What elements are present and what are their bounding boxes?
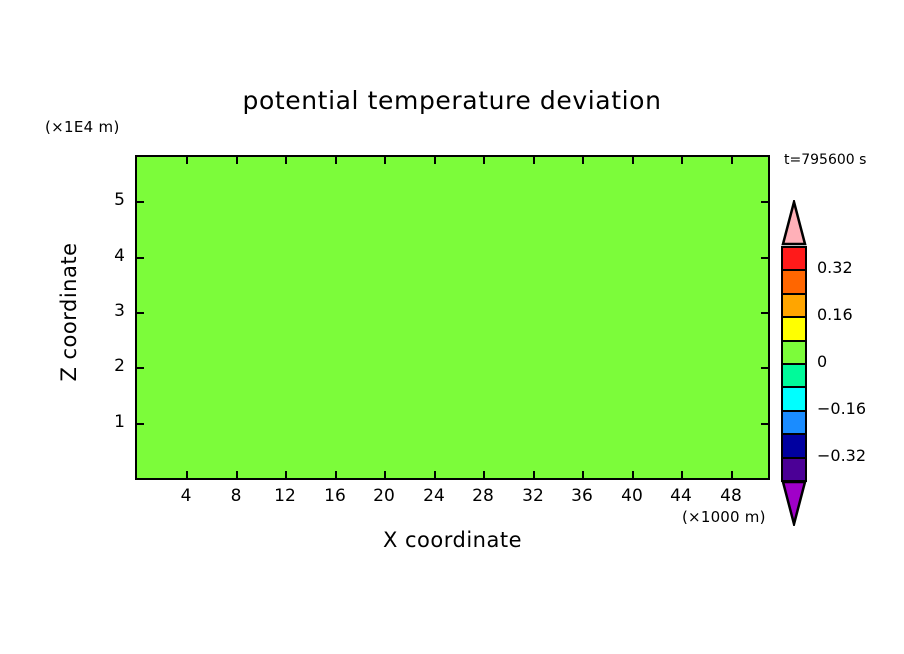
y-axis-tick (137, 312, 144, 314)
x-axis-tick-top (384, 157, 386, 164)
colorbar-tick-label: −0.32 (817, 446, 866, 465)
colorbar-tick-label: 0.16 (817, 305, 853, 324)
x-axis-tick (335, 471, 337, 478)
contour-field-canvas (137, 157, 768, 478)
y-tick-label: 1 (95, 412, 125, 432)
x-axis-title: X coordinate (135, 528, 770, 552)
x-axis-tick (236, 471, 238, 478)
colorbar-band (781, 386, 807, 411)
x-axis-tick-top (582, 157, 584, 164)
x-axis-tick-top (533, 157, 535, 164)
x-axis-tick (483, 471, 485, 478)
y-axis-tick (137, 257, 144, 259)
y-axis-tick-right (761, 367, 768, 369)
x-tick-label: 12 (265, 486, 305, 506)
x-axis-tick (384, 471, 386, 478)
y-axis-tick (137, 423, 144, 425)
x-axis-tick-top (236, 157, 238, 164)
x-axis-tick-top (632, 157, 634, 164)
colorbar (781, 200, 807, 526)
colorbar-tick-label: −0.16 (817, 399, 866, 418)
x-axis-tick (731, 471, 733, 478)
y-axis-tick (137, 367, 144, 369)
y-axis-title: Z coordinate (57, 222, 81, 402)
x-axis-tick (533, 471, 535, 478)
x-axis-tick-top (186, 157, 188, 164)
colorbar-band (781, 410, 807, 435)
colorbar-tick-label: 0.32 (817, 258, 853, 277)
x-axis-tick (285, 471, 287, 478)
colorbar-band (781, 293, 807, 318)
x-axis-tick (434, 471, 436, 478)
x-tick-label: 44 (661, 486, 701, 506)
x-tick-label: 48 (711, 486, 751, 506)
figure-root: potential temperature deviation (×1E4 m)… (0, 0, 904, 654)
x-tick-label: 28 (463, 486, 503, 506)
x-axis-tick-top (483, 157, 485, 164)
y-axis-tick-right (761, 312, 768, 314)
x-tick-label: 32 (513, 486, 553, 506)
y-axis-tick (137, 201, 144, 203)
x-axis-tick-top (285, 157, 287, 164)
x-tick-label: 20 (364, 486, 404, 506)
y-tick-label: 2 (95, 356, 125, 376)
colorbar-band (781, 457, 807, 482)
y-axis-unit-label: (×1E4 m) (45, 118, 120, 136)
y-tick-label: 3 (95, 301, 125, 321)
page-title: potential temperature deviation (0, 86, 904, 115)
plot-area (135, 155, 770, 480)
x-tick-label: 8 (216, 486, 256, 506)
x-axis-tick (632, 471, 634, 478)
y-tick-label: 4 (95, 246, 125, 266)
x-tick-label: 36 (562, 486, 602, 506)
x-axis-tick-top (681, 157, 683, 164)
x-axis-unit-label: (×1000 m) (682, 508, 766, 526)
colorbar-band (781, 269, 807, 294)
colorbar-band (781, 316, 807, 341)
colorbar-band (781, 433, 807, 458)
x-axis-tick-top (731, 157, 733, 164)
x-axis-tick (681, 471, 683, 478)
x-axis-tick-top (335, 157, 337, 164)
colorbar-band (781, 246, 807, 271)
colorbar-band (781, 363, 807, 388)
y-axis-tick-right (761, 423, 768, 425)
x-axis-tick (582, 471, 584, 478)
colorbar-bottom-arrow-icon (781, 480, 807, 526)
x-tick-label: 40 (612, 486, 652, 506)
colorbar-top-arrow-icon (781, 200, 807, 246)
y-tick-label: 5 (95, 190, 125, 210)
x-axis-tick-top (434, 157, 436, 164)
x-axis-tick (186, 471, 188, 478)
x-tick-label: 16 (315, 486, 355, 506)
colorbar-band (781, 340, 807, 365)
x-tick-label: 4 (166, 486, 206, 506)
colorbar-tick-label: 0 (817, 352, 827, 371)
timestamp-annotation: t=795600 s (784, 152, 866, 168)
x-tick-label: 24 (414, 486, 454, 506)
y-axis-tick-right (761, 257, 768, 259)
y-axis-tick-right (761, 201, 768, 203)
